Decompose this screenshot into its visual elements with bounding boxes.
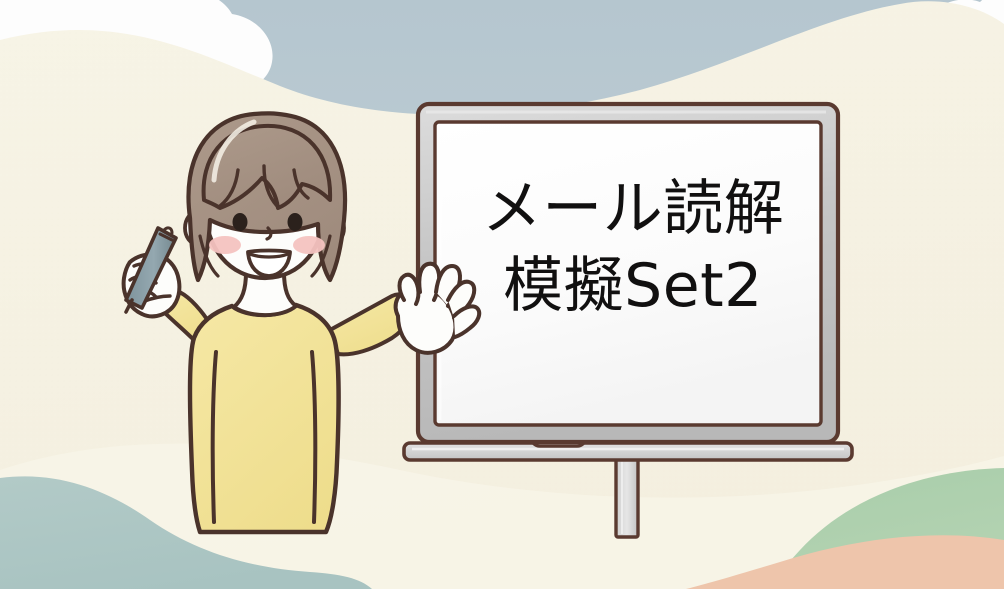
foreground-layer <box>0 0 1004 589</box>
whiteboard <box>418 104 838 442</box>
eye-left <box>233 213 248 231</box>
illustration-canvas: メール読解 模擬Set2 <box>0 0 1004 589</box>
blush-left <box>209 236 241 254</box>
eye-right <box>288 213 303 231</box>
whiteboard-stand-leg <box>616 455 638 537</box>
blush-right <box>293 236 325 254</box>
marker-tray <box>404 443 852 460</box>
